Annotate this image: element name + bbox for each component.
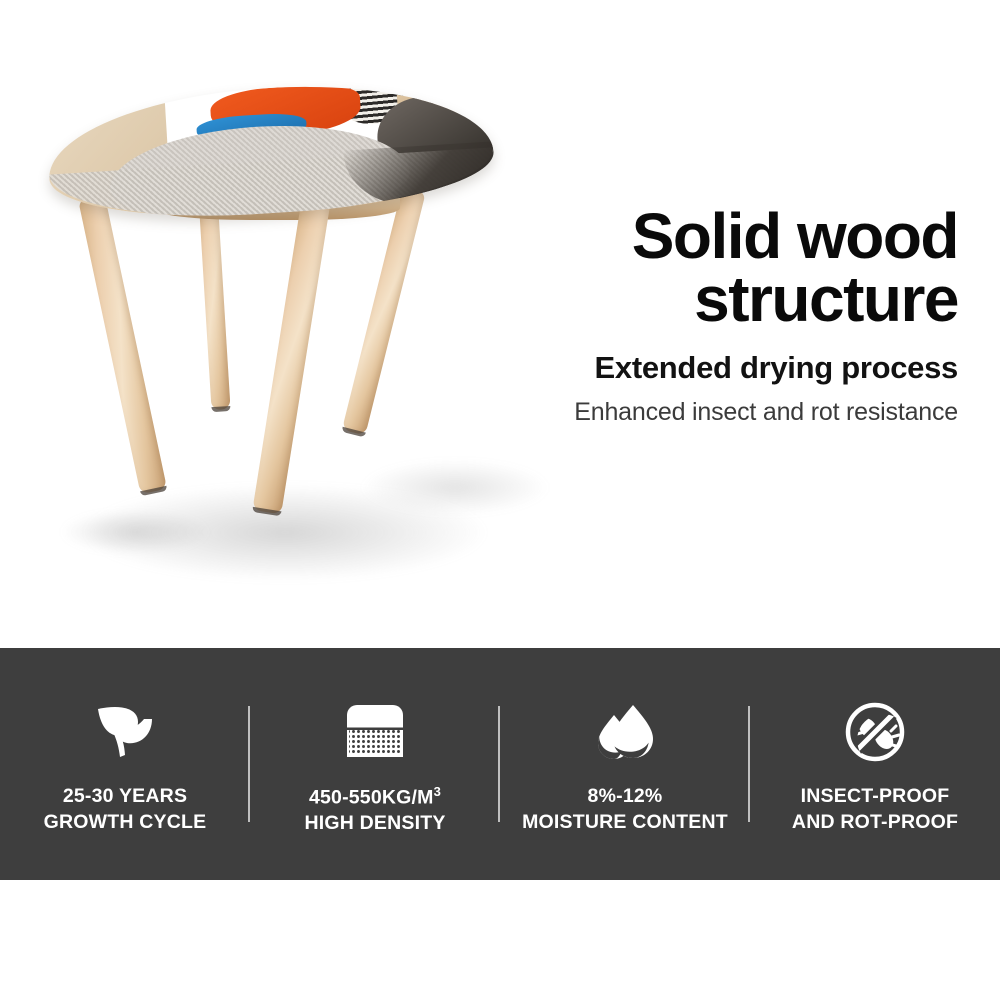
feature-label-high-density: 450-550KG/M3 HIGH DENSITY [304, 783, 445, 837]
feature-line-2: MOISTURE CONTENT [522, 810, 728, 836]
leaf-icon [94, 698, 156, 766]
stool-leg-front-right [252, 196, 330, 515]
feature-bar: 25-30 YEARS GROWTH CYCLE [0, 648, 1000, 880]
density-block-icon [346, 697, 404, 765]
feature-line-1: 450-550KG/M3 [304, 783, 445, 811]
subheadline: Extended drying process [358, 350, 958, 386]
headline: Solid wood structure [358, 205, 958, 330]
feature-line-1-text: 450-550KG/M [309, 787, 434, 809]
feature-line-1-superscript: 3 [434, 784, 441, 799]
leg-surface [78, 195, 167, 494]
leg-surface [252, 196, 330, 515]
feature-line-2: HIGH DENSITY [304, 811, 445, 837]
feature-item-moisture-content: 8%-12% MOISTURE CONTENT [500, 648, 750, 880]
product-marketing-banner: Solid wood structure Extended drying pro… [0, 0, 1000, 1000]
hero-section: Solid wood structure Extended drying pro… [0, 0, 1000, 648]
feature-label-growth-cycle: 25-30 YEARS GROWTH CYCLE [44, 784, 207, 835]
feature-label-insect-proof: INSECT-PROOF AND ROT-PROOF [792, 784, 958, 835]
stool-leg-back-left [198, 187, 231, 410]
feature-line-2: AND ROT-PROOF [792, 810, 958, 836]
headline-line-2: structure [358, 268, 958, 331]
feature-item-high-density: 450-550KG/M3 HIGH DENSITY [250, 648, 500, 880]
tagline: Enhanced insect and rot resistance [358, 398, 958, 427]
feature-line-2: GROWTH CYCLE [44, 810, 207, 836]
stool-leg-front-left [78, 195, 167, 494]
leg-tip [211, 406, 230, 412]
feature-line-1: INSECT-PROOF [792, 784, 958, 810]
feature-item-insect-proof: INSECT-PROOF AND ROT-PROOF [750, 648, 1000, 880]
hero-text-block: Solid wood structure Extended drying pro… [358, 205, 958, 427]
no-insect-icon [844, 698, 906, 766]
feature-item-growth-cycle: 25-30 YEARS GROWTH CYCLE [0, 648, 250, 880]
floor-shadow-main [85, 485, 485, 580]
feature-line-1: 25-30 YEARS [44, 784, 207, 810]
leg-surface [198, 187, 231, 410]
stool-patchwork-seat [45, 75, 497, 227]
feature-label-moisture-content: 8%-12% MOISTURE CONTENT [522, 784, 728, 835]
feature-line-1: 8%-12% [522, 784, 728, 810]
headline-line-1: Solid wood [358, 205, 958, 268]
water-drops-icon [595, 698, 655, 766]
